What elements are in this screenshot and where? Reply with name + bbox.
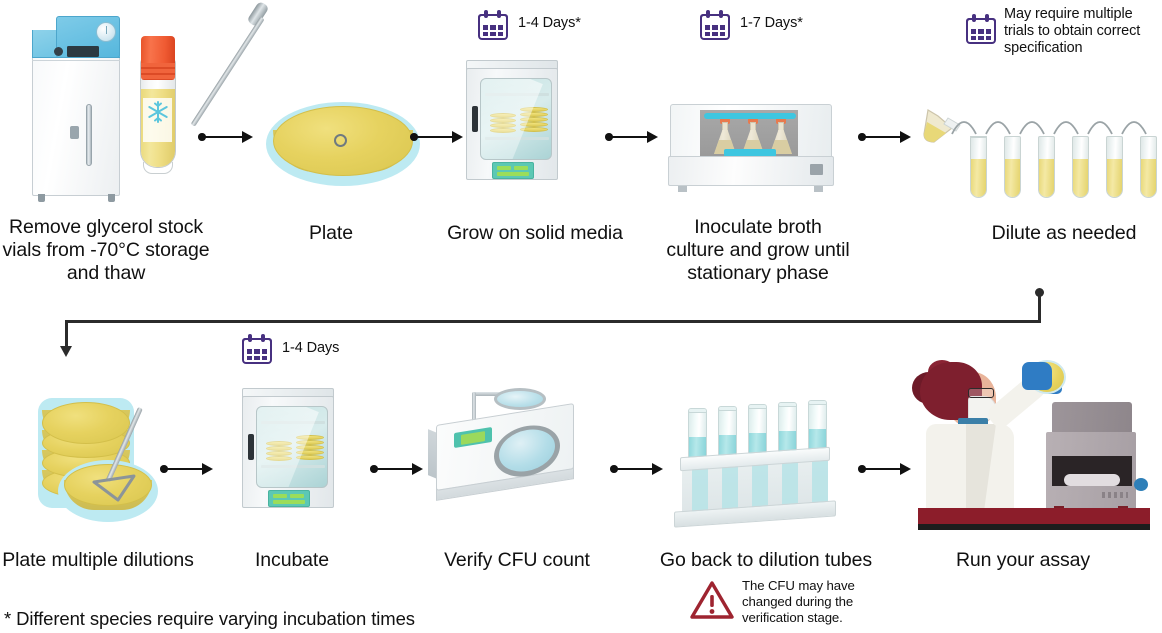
dilution-tube	[1004, 136, 1021, 198]
connector-arrowhead	[60, 346, 72, 357]
step-label-plate: Plate	[258, 222, 404, 245]
rack-tube-lower	[752, 460, 768, 510]
incubator-door-handle	[248, 434, 254, 460]
dilution-tube	[1038, 136, 1055, 198]
shaker-switch	[810, 164, 823, 175]
step-label-grow-on-solid-media: Grow on solid media	[440, 222, 630, 245]
dilution-tube	[970, 136, 987, 198]
shaker-light-bar	[704, 113, 796, 119]
connector-vertical-right	[1038, 292, 1041, 322]
step-label-inoculate-broth: Inoculate broth culture and grow until s…	[660, 216, 856, 285]
shaker-foot	[814, 186, 823, 192]
illustration-incubator-incubate	[236, 382, 346, 522]
instrument-tray	[1064, 474, 1120, 486]
illustration-plate-with-loop	[246, 0, 416, 200]
dilution-tube	[1072, 136, 1089, 198]
freezer-seam	[32, 60, 120, 61]
annotation-text-multiple-trials: May require multiple trials to obtain co…	[1004, 6, 1160, 57]
illustration-shaking-incubator	[668, 100, 848, 200]
annotation-cfu-warning: The CFU may have changed during the veri…	[690, 580, 920, 630]
freezer-body	[32, 38, 120, 196]
rack-tube-lower	[782, 458, 798, 508]
cryovial-base	[143, 162, 173, 174]
instrument-top	[1052, 402, 1132, 436]
calendar-icon	[700, 10, 730, 40]
blue-glove	[1022, 362, 1052, 390]
shaker-foot	[678, 186, 687, 192]
freezer-knob-icon	[54, 47, 63, 56]
calendar-icon	[966, 14, 996, 44]
instrument-vents	[1102, 492, 1128, 498]
rack-tube-lower	[692, 464, 708, 514]
lab-bench	[918, 508, 1150, 524]
calendar-icon	[478, 10, 508, 40]
illustration-test-tube-rack	[674, 390, 844, 530]
incubator-door-handle	[472, 106, 478, 132]
rack-tube-lower	[812, 456, 828, 506]
step-label-dilute-as-needed: Dilute as needed	[960, 222, 1162, 245]
annotation-text-1-4-days: 1-4 Days*	[518, 15, 638, 32]
illustration-plate-stack-spreader	[14, 392, 184, 532]
diagram-canvas: Remove glycerol stock vials from -70°C s…	[0, 0, 1162, 633]
magnifier-lens	[494, 388, 546, 410]
freezer-foot	[108, 194, 115, 202]
spreader-triangle-icon	[90, 472, 140, 504]
footnote: * Different species require varying incu…	[4, 608, 524, 630]
arrow-step7-to-step8	[370, 462, 426, 476]
arrow-step4-to-step5	[858, 130, 914, 144]
dilution-transfer-arcs	[948, 106, 1160, 140]
inoculation-loop-ring	[334, 134, 347, 147]
connector-vertical-left	[65, 320, 68, 348]
calendar-icon	[242, 334, 272, 364]
dilution-tube	[1106, 136, 1123, 198]
arrow-step8-to-step9	[610, 462, 666, 476]
cryovial-cap	[141, 36, 175, 66]
rack-tube-lower	[722, 462, 738, 512]
freezer-foot	[38, 194, 45, 202]
incubator-glass-door	[256, 406, 328, 488]
eyeglasses-icon	[968, 388, 994, 398]
flask-neck	[722, 122, 728, 131]
warning-text: The CFU may have changed during the veri…	[742, 578, 902, 626]
connector-horizontal	[65, 320, 1041, 323]
step-label-plate-multiple-dilutions: Plate multiple dilutions	[0, 549, 200, 572]
instrument-knob	[1134, 478, 1148, 491]
incubator-control-panel	[268, 490, 310, 507]
illustration-serial-dilution	[922, 96, 1160, 202]
dilution-tube	[1140, 136, 1157, 198]
freezer-latch	[70, 126, 79, 139]
step-label-incubate: Incubate	[222, 549, 362, 572]
illustration-incubator-solid-media	[460, 54, 570, 194]
warning-triangle-icon	[690, 580, 734, 620]
annotation-text-1-7-days: 1-7 Days*	[740, 15, 860, 32]
arrow-step6-to-step7	[160, 462, 216, 476]
cryovial-collar	[141, 63, 175, 80]
freezer-display	[67, 46, 99, 57]
cryovial	[140, 36, 180, 181]
arrow-step3-to-step4	[605, 130, 661, 144]
step-label-remove-glycerol: Remove glycerol stock vials from -70°C s…	[2, 216, 210, 285]
step-label-go-back-to-dilution-tubes: Go back to dilution tubes	[644, 549, 888, 572]
lab-bench-shadow	[918, 524, 1150, 530]
freezer-dial-icon	[96, 22, 116, 42]
flask-neck	[750, 122, 756, 131]
freezer-door-handle	[86, 104, 92, 166]
incubator-control-panel	[492, 162, 534, 179]
annotation-text-1-4-days-incubate: 1-4 Days	[282, 340, 392, 357]
illustration-freezer-and-cryovial	[14, 8, 204, 208]
step-label-run-your-assay: Run your assay	[938, 549, 1108, 572]
illustration-colony-counter	[428, 392, 588, 522]
snowflake-icon	[146, 100, 170, 124]
arrow-step2-to-step3	[410, 130, 466, 144]
flask-neck	[778, 122, 784, 131]
illustration-scientist-running-assay	[906, 358, 1162, 538]
incubator-glass-door	[480, 78, 552, 160]
step-label-verify-cfu-count: Verify CFU count	[432, 549, 602, 572]
